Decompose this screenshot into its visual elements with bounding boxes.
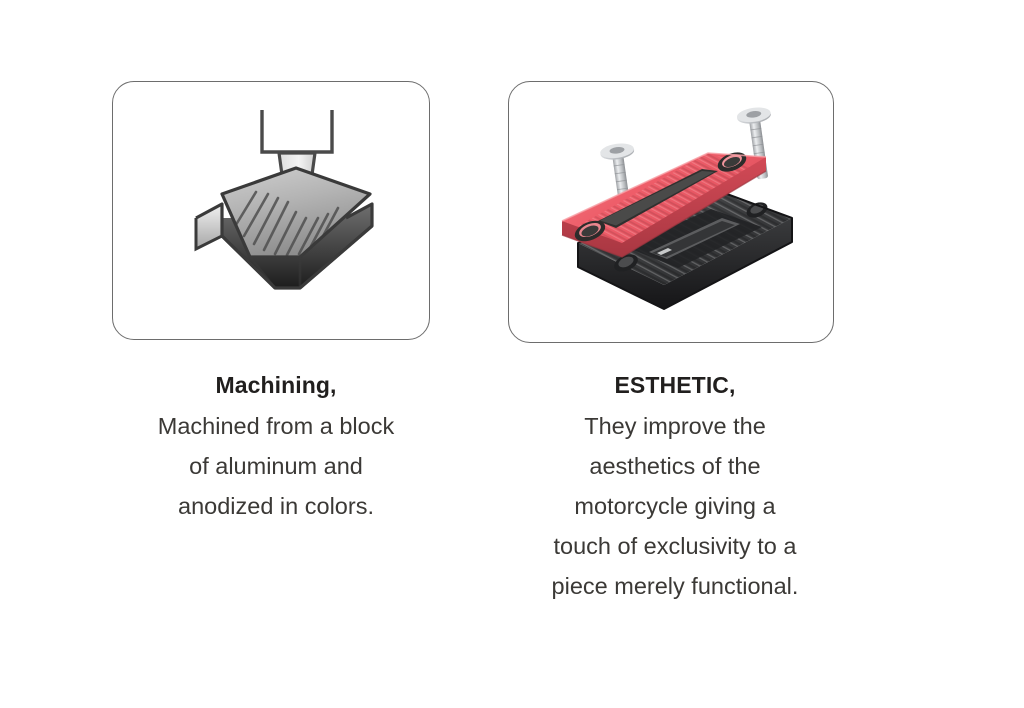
feature-card-machining: Machining, Machined from a block of alum… [60, 0, 492, 708]
feature-body-line: anodized in colors. [60, 486, 492, 526]
feature-body-line: piece merely functional. [452, 566, 898, 606]
feature-text-machining: Machining, Machined from a block of alum… [60, 368, 492, 526]
feature-title: ESTHETIC, [452, 368, 898, 402]
cnc-milling-block-icon [113, 82, 429, 339]
feature-card-esthetic: ESTHETIC, They improve the aesthetics of… [452, 0, 898, 708]
feature-body-line: touch of exclusivity to a [452, 526, 898, 566]
feature-body-line: motorcycle giving a [452, 486, 898, 526]
feature-body-line: of aluminum and [60, 446, 492, 486]
feature-title: Machining, [60, 368, 492, 402]
feature-body: Machined from a block of aluminum and an… [60, 406, 492, 526]
feature-grid: Machining, Machined from a block of alum… [0, 0, 1024, 708]
feature-body: They improve the aesthetics of the motor… [452, 406, 898, 606]
icon-card-esthetic [508, 81, 834, 343]
feature-body-line: Machined from a block [60, 406, 492, 446]
feature-text-esthetic: ESTHETIC, They improve the aesthetics of… [452, 368, 898, 606]
feature-body-line: They improve the [452, 406, 898, 446]
icon-card-machining [112, 81, 430, 340]
feature-body-line: aesthetics of the [452, 446, 898, 486]
anodized-bracket-photo-icon [509, 82, 833, 342]
